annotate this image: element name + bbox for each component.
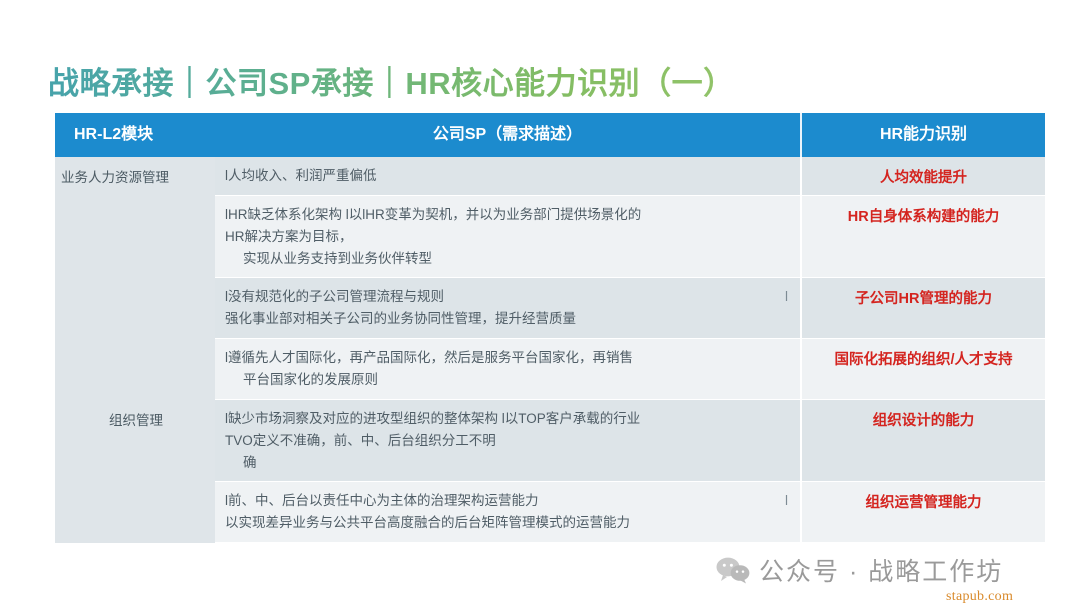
column-header-module: HR-L2模块 — [55, 113, 215, 157]
table-row: 组织管理l缺少市场洞察及对应的进攻型组织的整体架构 l以TOP客户承载的行业TV… — [55, 400, 1045, 483]
cell-company-sp: l缺少市场洞察及对应的进攻型组织的整体架构 l以TOP客户承载的行业TVO定义不… — [215, 400, 800, 483]
column-header-company-sp: 公司SP（需求描述） — [215, 113, 800, 157]
cell-hr-capability: 组织运营管理能力 — [800, 482, 1045, 543]
cell-company-sp: lHR缺乏体系化架构 l以lHR变革为契机，并以为业务部门提供场景化的HR解决方… — [215, 196, 800, 279]
cell-hr-capability: HR自身体系构建的能力 — [800, 196, 1045, 279]
cell-hr-capability: 国际化拓展的组织/人才支持 — [800, 339, 1045, 400]
sp-line: ll没有规范化的子公司管理流程与规则 — [225, 286, 788, 308]
sp-line: 强化事业部对相关子公司的业务协同性管理，提升经营质量 — [225, 308, 788, 330]
cell-hr-capability: 人均效能提升 — [800, 157, 1045, 196]
watermark-label: 公众号 · 战略工作坊 — [759, 552, 1003, 588]
cell-module: 业务人力资源管理 — [55, 157, 215, 196]
wechat-icon — [716, 557, 750, 584]
cell-company-sp: l遵循先人才国际化，再产品国际化，然后是服务平台国家化，再销售平台国家化的发展原… — [215, 339, 800, 400]
page-title: 战略承接｜公司SP承接｜HR核心能力识别（一） — [48, 58, 735, 103]
watermark: 公众号 · 战略工作坊 — [716, 552, 1003, 588]
sp-line: TVO定义不准确，前、中、后台组织分工不明 — [225, 430, 788, 452]
cell-module — [55, 196, 215, 279]
sp-line: 确 — [225, 452, 788, 474]
module-label: 组织管理 — [61, 409, 211, 429]
capability-table: HR-L2模块 公司SP（需求描述） HR能力识别 业务人力资源管理l人均收入、… — [55, 113, 1045, 543]
table-row: ll前、中、后台以责任中心为主体的治理架构运营能力以实现差异业务与公共平台高度融… — [55, 482, 1045, 543]
cell-company-sp: ll没有规范化的子公司管理流程与规则强化事业部对相关子公司的业务协同性管理，提升… — [215, 278, 800, 339]
module-label: 业务人力资源管理 — [61, 166, 211, 186]
sp-line: ll前、中、后台以责任中心为主体的治理架构运营能力 — [225, 490, 788, 512]
cell-company-sp: ll前、中、后台以责任中心为主体的治理架构运营能力以实现差异业务与公共平台高度融… — [215, 482, 800, 543]
sp-line: 以实现差异业务与公共平台高度融合的后台矩阵管理模式的运营能力 — [225, 512, 788, 534]
cell-hr-capability: 组织设计的能力 — [800, 400, 1045, 483]
sp-line: lHR缺乏体系化架构 l以lHR变革为契机，并以为业务部门提供场景化的 — [225, 204, 788, 226]
cell-company-sp: l人均收入、利润严重偏低 — [215, 157, 800, 196]
sp-line: l人均收入、利润严重偏低 — [225, 165, 788, 187]
table-row: l遵循先人才国际化，再产品国际化，然后是服务平台国家化，再销售平台国家化的发展原… — [55, 339, 1045, 400]
cell-module — [55, 339, 215, 400]
column-header-hr-capability: HR能力识别 — [800, 113, 1045, 157]
watermark-domain: stapub.com — [946, 589, 1013, 605]
table-row: 业务人力资源管理l人均收入、利润严重偏低人均效能提升 — [55, 157, 1045, 196]
cell-module: 组织管理 — [55, 400, 215, 483]
sp-line-marker: l — [785, 490, 788, 512]
sp-line-marker: l — [785, 286, 788, 308]
sp-line: 实现从业务支持到业务伙伴转型 — [225, 248, 788, 270]
table-row: ll没有规范化的子公司管理流程与规则强化事业部对相关子公司的业务协同性管理，提升… — [55, 278, 1045, 339]
table-row: lHR缺乏体系化架构 l以lHR变革为契机，并以为业务部门提供场景化的HR解决方… — [55, 196, 1045, 279]
cell-module — [55, 278, 215, 339]
sp-line: 平台国家化的发展原则 — [225, 369, 788, 391]
sp-line: HR解决方案为目标， — [225, 226, 788, 248]
cell-module — [55, 482, 215, 543]
sp-line: l遵循先人才国际化，再产品国际化，然后是服务平台国家化，再销售 — [225, 347, 788, 369]
table-body: 业务人力资源管理l人均收入、利润严重偏低人均效能提升lHR缺乏体系化架构 l以l… — [55, 157, 1045, 543]
cell-hr-capability: 子公司HR管理的能力 — [800, 278, 1045, 339]
table-header-row: HR-L2模块 公司SP（需求描述） HR能力识别 — [55, 113, 1045, 157]
sp-line: l缺少市场洞察及对应的进攻型组织的整体架构 l以TOP客户承载的行业 — [225, 408, 788, 430]
